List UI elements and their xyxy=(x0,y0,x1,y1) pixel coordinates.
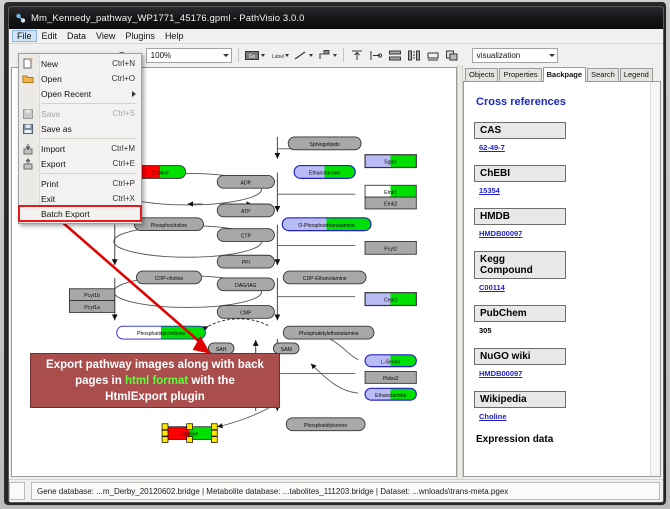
new-document-icon xyxy=(22,58,34,70)
xref-value-hmdb[interactable]: HMDB00097 xyxy=(479,229,650,238)
node-label: Ethanolamine xyxy=(309,171,340,177)
menu-data[interactable]: Data xyxy=(62,30,91,42)
tab-legend[interactable]: Legend xyxy=(620,68,653,81)
selection-handle[interactable] xyxy=(162,430,168,436)
menu-item-batch-export[interactable]: Batch Export xyxy=(19,206,141,221)
metabolite-node-phosphatidylcholines[interactable]: Phosphatidylcholines xyxy=(117,326,206,339)
xref-source-pubchem: PubChem xyxy=(474,305,566,322)
xref-link-nugo[interactable]: HMDB00097 xyxy=(479,369,522,378)
menu-bar: File Edit Data View Plugins Help xyxy=(9,29,663,44)
node-label: ATP xyxy=(241,209,251,215)
node-label: CDP-Ethanolamine xyxy=(303,276,347,282)
xref-source-wikipedia: Wikipedia xyxy=(474,391,566,408)
selection-handle[interactable] xyxy=(211,424,217,430)
node-label: CDP-choline xyxy=(155,276,184,282)
annotation-callout: Export pathway images along with back pa… xyxy=(30,353,280,408)
metabolite-node-sphingolipids[interactable]: Sphingolipids xyxy=(288,137,361,150)
xref-link-chebi[interactable]: 15354 xyxy=(479,186,500,195)
callout-highlight: html format xyxy=(125,375,188,387)
menu-view[interactable]: View xyxy=(91,30,120,42)
metabolite-node-phosphatidylserine[interactable]: Phosphatidylserine xyxy=(286,418,365,431)
node-label: Etnk2 xyxy=(384,202,397,208)
metabolite-node-ethanolamine[interactable]: Ethanolamine xyxy=(365,388,416,400)
menu-item-batch-export-label: Batch Export xyxy=(41,209,141,219)
xref-value-wikipedia[interactable]: Choline xyxy=(479,412,650,421)
metabolite-node-ppi[interactable]: PPi xyxy=(217,255,274,268)
file-dropdown-menu[interactable]: New Ctrl+N Open Ctrl+O Open Recent Save xyxy=(18,53,142,224)
pathvisio-window: Mm_Kennedy_pathway_WP1771_45176.gpml - P… xyxy=(8,6,664,503)
menu-item-import[interactable]: Import Ctrl+M xyxy=(19,141,141,156)
gene-node-sgpl1[interactable]: Sgpl1 xyxy=(365,155,416,168)
save-disk-icon xyxy=(22,108,34,120)
selection-handle[interactable] xyxy=(187,424,193,430)
xref-value-cas[interactable]: 62-49-7 xyxy=(479,143,650,152)
backpage-scrollbar[interactable] xyxy=(650,82,660,476)
xref-value-nugo[interactable]: HMDB00097 xyxy=(479,369,650,378)
menu-plugins[interactable]: Plugins xyxy=(120,30,160,42)
menu-item-save[interactable]: Save Ctrl+S xyxy=(19,106,141,121)
menu-help[interactable]: Help xyxy=(160,30,189,42)
common-width-icon[interactable] xyxy=(426,48,441,63)
selection-handle[interactable] xyxy=(187,437,193,443)
node-label: ADP xyxy=(241,180,252,186)
node-label: DAG/IAG xyxy=(235,283,256,289)
metabolite-node-ctp[interactable]: CTP xyxy=(217,229,274,242)
callout-line1: Export pathway images along with back xyxy=(46,359,264,371)
chevron-down-icon[interactable] xyxy=(261,54,265,57)
gene-node-pcyt1a[interactable]: Pcyt1a xyxy=(69,301,114,313)
node-label: Pcyt1a xyxy=(84,305,100,311)
toolbar-separator xyxy=(238,48,239,62)
metabolite-node-cdp-ethanolamine[interactable]: CDP-Ethanolamine xyxy=(283,271,366,284)
toolbar-separator xyxy=(343,48,344,62)
menu-separator xyxy=(41,173,137,174)
expression-data-heading: Expression data xyxy=(476,434,650,445)
line-tool[interactable] xyxy=(293,48,313,63)
label-tool[interactable]: Label xyxy=(269,48,289,63)
selection-handle[interactable] xyxy=(162,424,168,430)
xref-value-chebi[interactable]: 15354 xyxy=(479,186,650,195)
open-folder-icon xyxy=(22,73,34,85)
visualization-value: visualization xyxy=(477,51,521,60)
menu-item-export-label: Export xyxy=(41,159,113,169)
stack-horizontal-icon[interactable] xyxy=(388,48,403,63)
desktop-background: Mm_Kennedy_pathway_WP1771_45176.gpml - P… xyxy=(0,0,670,509)
tab-properties[interactable]: Properties xyxy=(499,68,541,81)
interaction-icon[interactable] xyxy=(317,48,332,63)
menu-item-open-recent[interactable]: Open Recent xyxy=(19,86,141,101)
gene-product-icon[interactable]: Gn xyxy=(245,48,260,63)
menu-item-new[interactable]: New Ctrl+N xyxy=(19,56,141,71)
metabolite-node-adp[interactable]: ADP xyxy=(217,175,274,188)
node-label: Sgpl1 xyxy=(384,160,397,166)
svg-text:Gn: Gn xyxy=(249,54,256,60)
xref-value-pubchem: 305 xyxy=(479,326,650,335)
metabolite-node-dag-iag[interactable]: DAG/IAG xyxy=(217,278,274,291)
menu-item-print-accel: Ctrl+P xyxy=(113,179,141,188)
node-label: Pcyt2 xyxy=(384,246,397,252)
gene-node-ptdss2[interactable]: Ptdss2 xyxy=(365,372,416,384)
metabolite-node-phosphatidylethanolamine[interactable]: Phosphatidylethanolamine xyxy=(283,326,374,339)
menu-separator xyxy=(41,138,137,139)
cross-references-title: Cross references xyxy=(476,96,650,108)
xref-link-cas[interactable]: 62-49-7 xyxy=(479,143,505,152)
menu-file[interactable]: File xyxy=(12,30,37,42)
metabolite-node-cdp-choline[interactable]: CDP-choline xyxy=(136,271,201,284)
metabolite-node-ethanolamine[interactable]: Ethanolamine xyxy=(294,166,355,179)
chevron-down-icon xyxy=(223,54,229,57)
chevron-right-icon xyxy=(132,91,136,97)
menu-item-open[interactable]: Open Ctrl+O xyxy=(19,71,141,86)
chevron-down-icon[interactable] xyxy=(285,54,289,57)
menu-item-print[interactable]: Print Ctrl+P xyxy=(19,176,141,191)
metabolite-node-atp[interactable]: ATP xyxy=(217,204,274,217)
label-icon[interactable]: Label xyxy=(269,48,284,63)
menu-item-open-accel: Ctrl+O xyxy=(112,74,141,83)
menu-separator xyxy=(41,103,137,104)
node-label: Cept1 xyxy=(384,298,398,304)
node-label: Ethanolamine xyxy=(375,393,406,399)
zoom-value: 100% xyxy=(151,51,171,60)
xref-link-wikipedia[interactable]: Choline xyxy=(479,412,507,421)
node-label: Phosphatidylethanolamine xyxy=(299,331,359,337)
bring-to-front-icon[interactable] xyxy=(445,48,460,63)
node-label: Choline xyxy=(151,171,168,177)
metabolite-node-o-phosphoethanolamine[interactable]: O-Phosphoethanolamine xyxy=(282,218,371,231)
xref-value-kegg[interactable]: C00114 xyxy=(479,283,650,292)
xref-link-kegg[interactable]: C00114 xyxy=(479,283,505,292)
pathvisio-icon xyxy=(15,13,26,24)
chevron-down-icon[interactable] xyxy=(333,54,337,57)
metabolite-node-choline[interactable]: Choline xyxy=(162,424,217,443)
xref-source-kegg: Kegg Compound xyxy=(474,251,566,279)
menu-item-print-label: Print xyxy=(41,179,113,189)
selection-handle[interactable] xyxy=(162,437,168,443)
menu-item-new-label: New xyxy=(41,59,112,69)
gene-node-pcyt1b[interactable]: Pcyt1b xyxy=(69,289,114,301)
align-top-icon[interactable] xyxy=(350,48,365,63)
gene-node-pcyt2[interactable]: Pcyt2 xyxy=(365,241,416,254)
import-icon xyxy=(22,143,34,155)
gene-node-etnk1[interactable]: Etnk1 xyxy=(365,185,416,197)
callout-line2-pre: pages in xyxy=(75,375,125,387)
menu-item-export-accel: Ctrl+E xyxy=(113,159,141,168)
visualization-combo[interactable]: visualization xyxy=(472,48,558,63)
side-panel-tabs: Objects Properties Backpage Search Legen… xyxy=(463,67,661,82)
node-label: L-Serine xyxy=(381,359,400,365)
menu-item-save-as[interactable]: Save as xyxy=(19,121,141,136)
side-panel: Objects Properties Backpage Search Legen… xyxy=(463,67,661,477)
window-title: Mm_Kennedy_pathway_WP1771_45176.gpml - P… xyxy=(31,13,305,24)
metabolite-node-l-serine[interactable]: L-Serine xyxy=(365,355,416,367)
export-icon xyxy=(22,158,34,170)
callout-line2-post: with the xyxy=(188,375,235,387)
menu-item-exit-label: Exit xyxy=(41,194,113,204)
selection-handle[interactable] xyxy=(211,430,217,436)
status-bar: Gene database: ...m_Derby_20120602.bridg… xyxy=(9,479,663,502)
chevron-down-icon xyxy=(549,54,555,57)
node-label: O-Phosphoethanolamine xyxy=(298,223,355,229)
gene-node-cept1[interactable]: Cept1 xyxy=(365,293,416,306)
menu-item-exit-accel: Ctrl+X xyxy=(113,194,141,203)
node-label: CMP xyxy=(240,310,252,316)
node-label: Phosphatidylserine xyxy=(304,423,347,429)
menu-item-new-accel: Ctrl+N xyxy=(112,59,141,68)
tab-objects[interactable]: Objects xyxy=(465,68,498,81)
node-label: PPi xyxy=(242,260,250,266)
datanode-tool[interactable]: Gn xyxy=(245,48,265,63)
node-label: Pcyt1b xyxy=(84,293,100,299)
menu-item-save-accel: Ctrl+S xyxy=(113,109,141,118)
menu-item-open-label: Open xyxy=(41,74,112,84)
menu-item-save-as-label: Save as xyxy=(41,124,135,134)
xref-source-cas: CAS xyxy=(474,122,566,139)
metabolite-node-phosphocholine[interactable]: Phosphocholine xyxy=(134,218,203,231)
node-label: SAM xyxy=(281,347,292,353)
callout-line3: HtmlExport plugin xyxy=(105,391,205,403)
xref-source-chebi: ChEBI xyxy=(474,165,566,182)
menu-item-exit[interactable]: Exit Ctrl+X xyxy=(19,191,141,206)
gene-node-etnk2[interactable]: Etnk2 xyxy=(365,197,416,209)
node-label: Ptdss2 xyxy=(383,376,399,382)
tab-backpage[interactable]: Backpage xyxy=(543,67,586,82)
node-label: Phosphatidylcholines xyxy=(137,331,185,337)
menu-item-import-label: Import xyxy=(41,144,111,154)
title-bar: Mm_Kennedy_pathway_WP1771_45176.gpml - P… xyxy=(9,7,663,29)
save-as-icon xyxy=(22,123,34,135)
menu-item-open-recent-label: Open Recent xyxy=(41,89,141,99)
node-label: Sphingolipids xyxy=(309,142,340,148)
chevron-down-icon[interactable] xyxy=(309,54,313,57)
menu-edit[interactable]: Edit xyxy=(37,30,63,42)
metabolite-node-choline[interactable]: Choline xyxy=(134,166,185,179)
status-grip xyxy=(9,482,25,500)
xref-source-hmdb: HMDB xyxy=(474,208,566,225)
interaction-tool[interactable] xyxy=(317,48,337,63)
menu-item-import-accel: Ctrl+M xyxy=(111,144,141,153)
xref-source-nugo: NuGO wiki xyxy=(474,348,566,365)
selection-handle[interactable] xyxy=(211,437,217,443)
align-left-icon[interactable] xyxy=(369,48,384,63)
zoom-combo[interactable]: 100% xyxy=(146,48,232,63)
node-label: Phosphocholine xyxy=(151,223,188,229)
metabolite-node-cmp[interactable]: CMP xyxy=(217,306,274,319)
node-label: CTP xyxy=(241,234,252,240)
node-label: Etnk1 xyxy=(384,190,397,196)
backpage-content[interactable]: Cross references CAS 62-49-7 ChEBI 15354… xyxy=(463,82,661,477)
svg-text:Label: Label xyxy=(272,54,284,60)
distribute-icon[interactable] xyxy=(407,48,422,63)
menu-item-export[interactable]: Export Ctrl+E xyxy=(19,156,141,171)
menu-item-save-label: Save xyxy=(41,109,113,119)
tab-search[interactable]: Search xyxy=(587,68,619,81)
line-icon[interactable] xyxy=(293,48,308,63)
xref-link-hmdb[interactable]: HMDB00097 xyxy=(479,229,522,238)
status-text: Gene database: ...m_Derby_20120602.bridg… xyxy=(31,482,660,500)
